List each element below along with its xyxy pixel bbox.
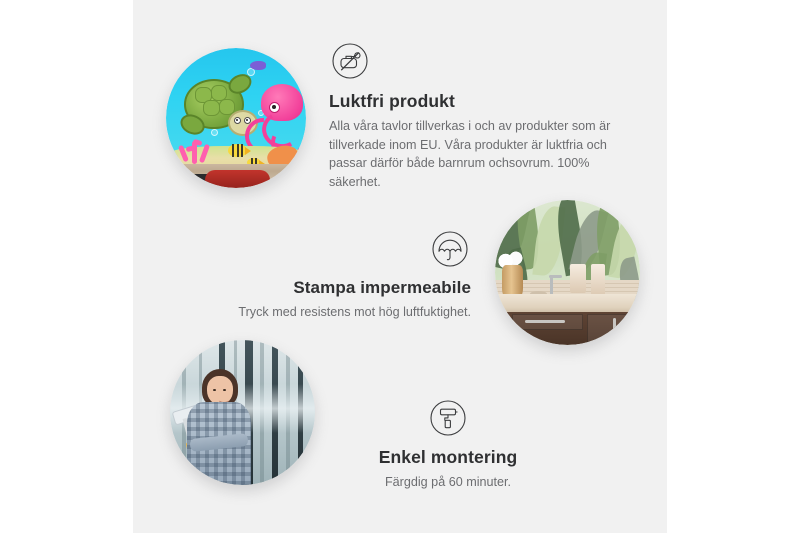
feature-block-waterproof: Stampa impermeabile Tryck med resistens … xyxy=(193,228,471,322)
wood-vanity-cabinet xyxy=(507,312,640,345)
coral-icon xyxy=(174,126,216,164)
towel xyxy=(570,264,586,293)
feature-title: Enkel montering xyxy=(323,447,573,468)
faucet-icon xyxy=(550,275,553,294)
feature-title: Stampa impermeabile xyxy=(193,278,471,298)
room-sofa xyxy=(205,170,269,188)
paint-roller-icon xyxy=(427,397,469,439)
photo-inner xyxy=(170,340,315,485)
woman-with-roller-forest-mural-photo xyxy=(170,340,315,485)
feature-block-odourless: Luktfri produkt Alla våra tavlor tillver… xyxy=(329,40,629,192)
umbrella-icon xyxy=(429,228,471,270)
feature-description: Färgdig på 60 minuter. xyxy=(323,473,573,492)
bathroom-tropical-wallpaper-photo xyxy=(495,200,640,345)
feature-title: Luktfri produkt xyxy=(329,91,629,112)
feature-description: Alla våra tavlor tillverkas i och av pro… xyxy=(329,117,629,192)
yellow-fish-icon xyxy=(228,144,246,157)
infographic-panel: Luktfri produkt Alla våra tavlor tillver… xyxy=(133,0,667,533)
feature-description: Tryck med resistens mot hög luftfuktighe… xyxy=(193,303,471,322)
marble-countertop xyxy=(495,294,640,313)
no-fragrance-icon xyxy=(329,40,371,82)
underwater-cartoon-mural-photo xyxy=(166,48,306,188)
photo-inner xyxy=(166,48,306,188)
towel xyxy=(591,264,606,296)
room-floor-strip xyxy=(166,164,306,188)
purple-fish-icon xyxy=(250,61,266,70)
feature-block-easy-install: Enkel montering Färgdig på 60 minuter. xyxy=(323,397,573,492)
photo-inner xyxy=(495,200,640,345)
infographic-canvas: Luktfri produkt Alla våra tavlor tillver… xyxy=(0,0,800,533)
